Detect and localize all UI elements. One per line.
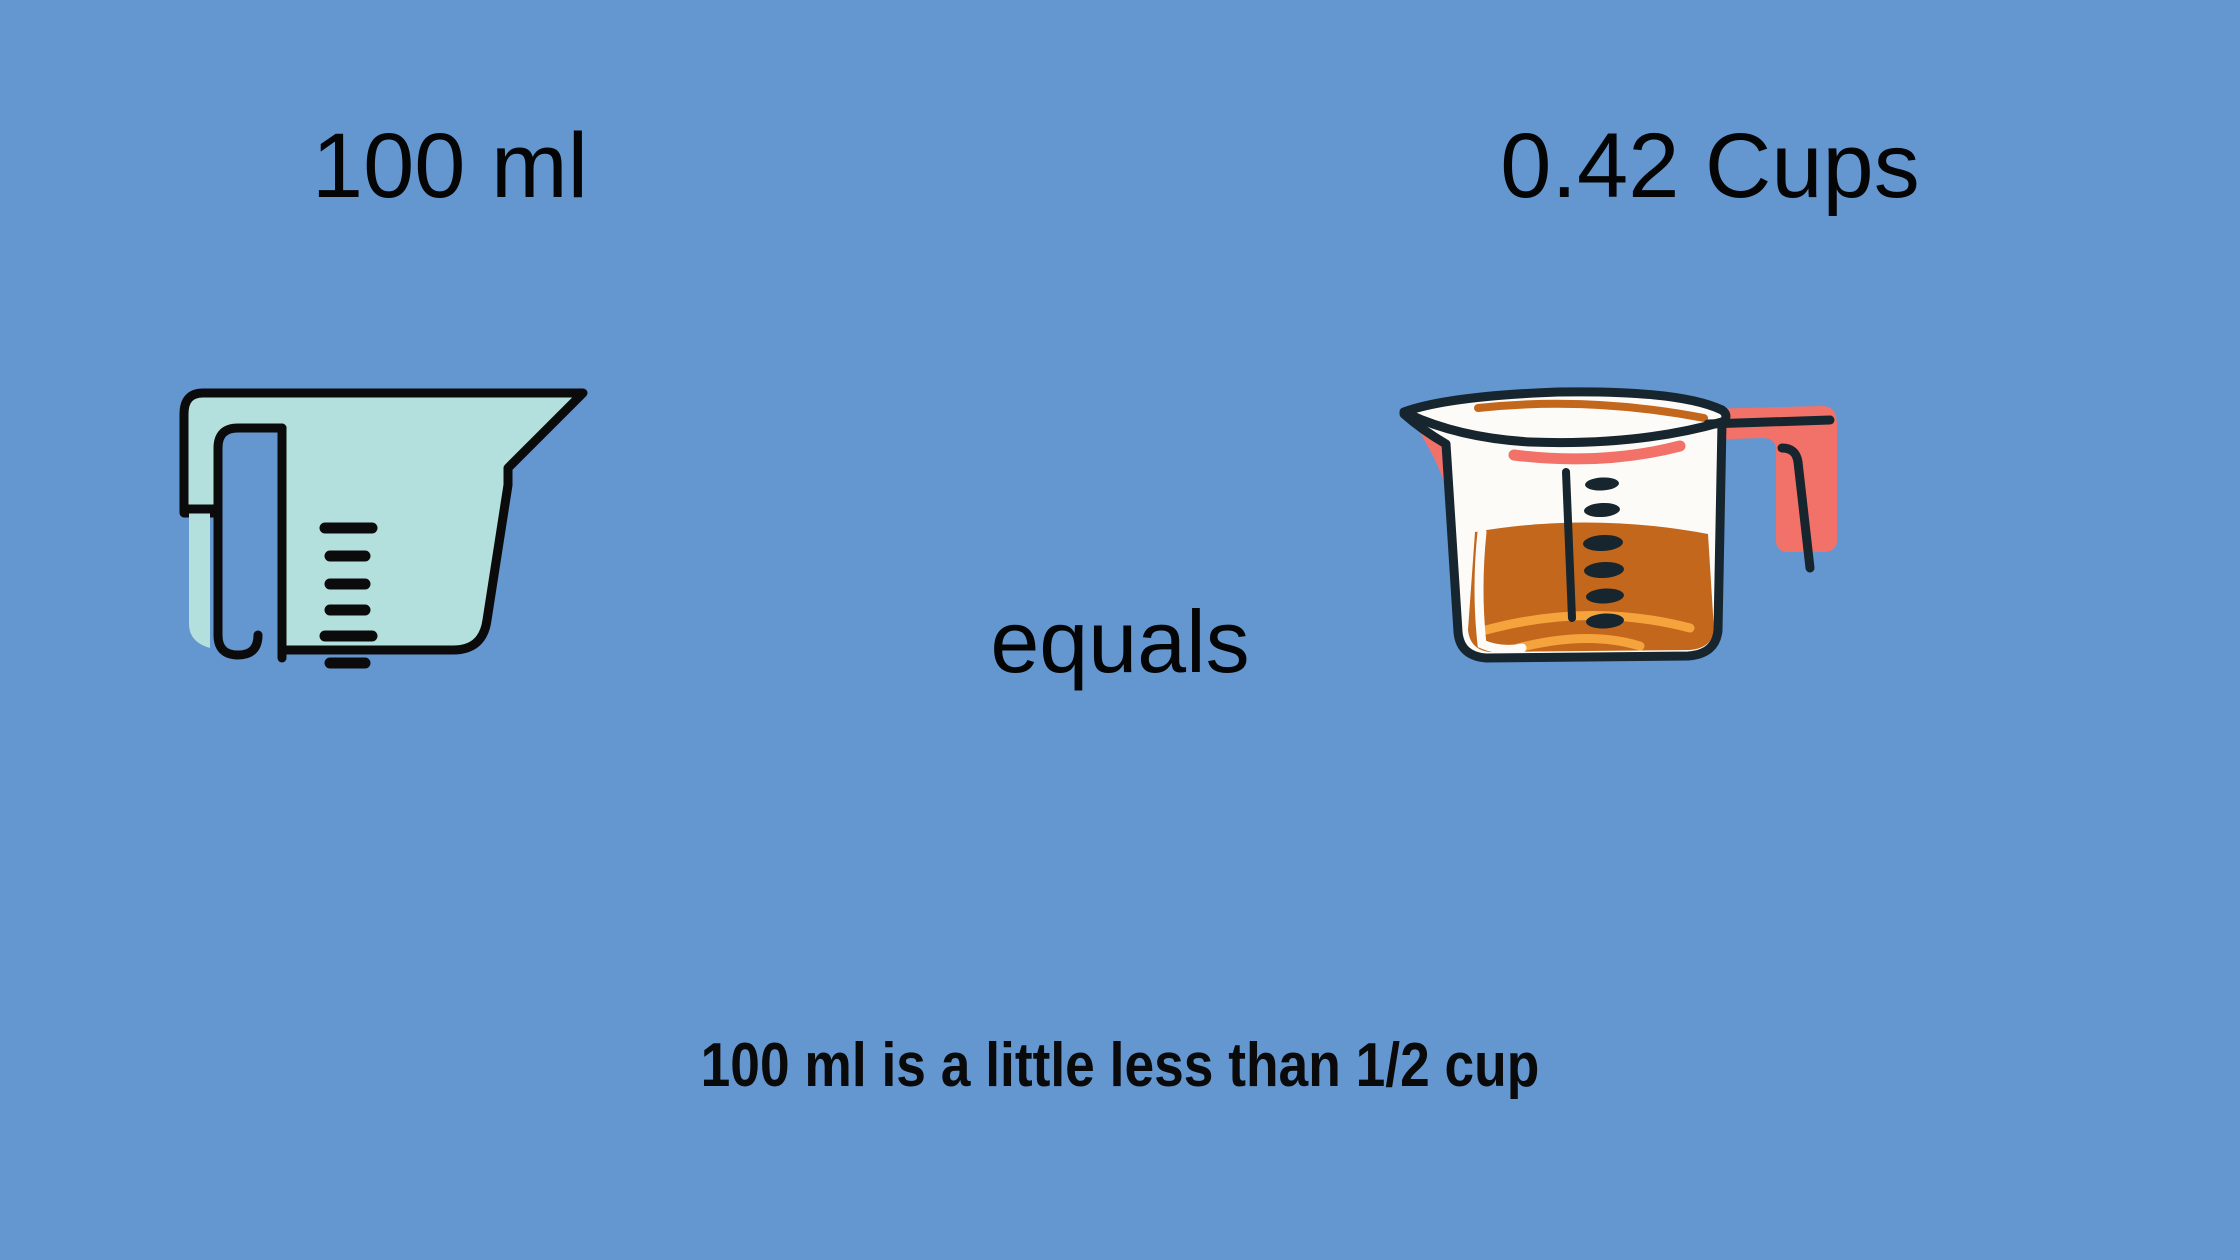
right-quantity-label: 0.42 Cups: [1260, 120, 2160, 212]
glass-measuring-cup-illustration: [1390, 380, 2110, 680]
jug-handle-inner-fill: [189, 412, 210, 648]
jug-handle-opening: [218, 428, 282, 655]
left-quantity-label: 100 ml: [0, 120, 900, 212]
conversion-caption: 100 ml is a little less than 1/2 cup: [157, 1035, 2083, 1097]
infographic-canvas: 100 ml 0.42 Cups equals: [0, 0, 2240, 1260]
cup-handle-top-stroke: [1708, 420, 1830, 424]
mint-measuring-jug-illustration: [150, 380, 670, 680]
equals-operator-label: equals: [860, 598, 1380, 686]
